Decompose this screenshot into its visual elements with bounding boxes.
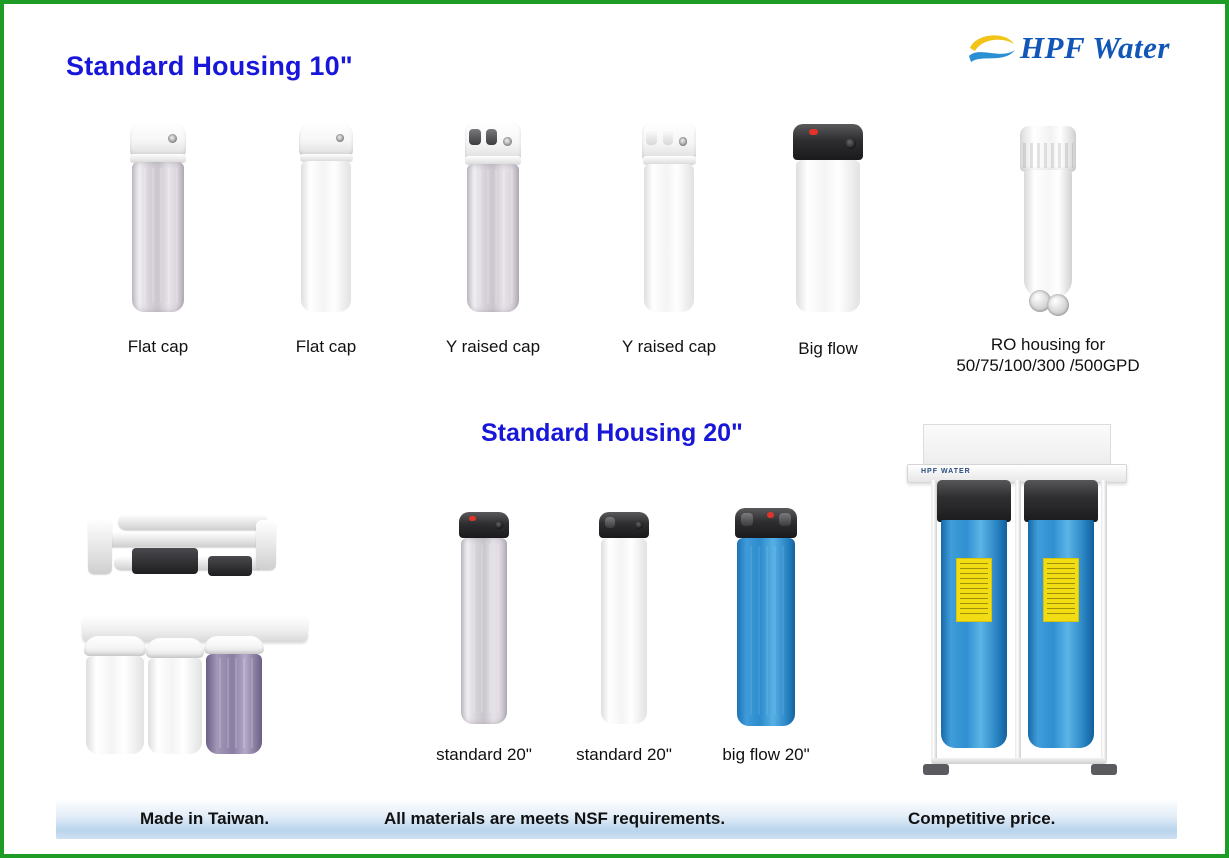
ro-membrane-tube (118, 514, 268, 530)
cap-white-flat (130, 122, 186, 156)
housing-body (301, 161, 351, 312)
cap-port-icon (845, 138, 856, 149)
cap-ribs (1023, 143, 1073, 168)
housing-image-white-20 (601, 512, 647, 724)
ro-pump (132, 548, 198, 574)
housing-image-ro-vessel (1011, 126, 1085, 312)
product-label: Y raised cap (408, 336, 578, 357)
ro-inline-filter (98, 532, 266, 547)
warning-label-right (1043, 558, 1079, 622)
water-wave-icon (966, 28, 1018, 68)
housing-body (1028, 520, 1094, 748)
housing-body (467, 164, 519, 312)
product-big-flow-20[interactable]: big flow 20" (704, 508, 828, 765)
cap-port-icon (168, 134, 177, 143)
big-blue-housing-right (1024, 480, 1098, 748)
stand-leg-right (1101, 480, 1107, 762)
housing-body (132, 162, 184, 312)
housing-body (206, 654, 262, 754)
ro-stage-2-housing (148, 638, 202, 754)
big-blue-housing-left (937, 480, 1011, 748)
stand-leg-left (931, 480, 937, 762)
housing-ribs (467, 545, 502, 712)
cap-lug-left (469, 129, 480, 145)
cap-white (84, 636, 147, 656)
cap-lug-left (741, 513, 754, 526)
housing-body (601, 538, 647, 724)
housing-body (644, 164, 694, 312)
stand-foot-right (1091, 764, 1117, 775)
product-flat-cap-clear[interactable]: Flat cap (78, 122, 238, 357)
product-y-raised-white[interactable]: Y raised cap (584, 122, 754, 357)
housing-ribs (213, 658, 256, 748)
cap-lug-left (646, 129, 657, 145)
section-title-20: Standard Housing 20" (481, 419, 743, 448)
cap-port-icon (635, 521, 643, 529)
cap-white-screw (1020, 126, 1076, 172)
product-standard-20-clear[interactable]: standard 20" (424, 512, 544, 765)
brand-name: HPF Water (1020, 30, 1170, 66)
housing-image-clear-20 (461, 512, 507, 724)
slide-canvas: Standard Housing 10" HPF Water Flat cap (0, 0, 1229, 858)
housing-image-white-flatcap (301, 122, 351, 312)
shelf-brand-label: HPF WATER (921, 468, 971, 475)
housing-body (737, 538, 795, 726)
housing-ribs (744, 546, 788, 715)
housing-body (86, 656, 144, 754)
housing-image-clear-yraised (467, 122, 519, 312)
cap-lug-mid (486, 129, 497, 145)
warning-label-left (956, 558, 992, 622)
footer-competitive-price: Competitive price. (908, 809, 1055, 829)
housing-ribs (473, 170, 513, 303)
cap-black (793, 124, 862, 160)
cap-black (937, 480, 1011, 522)
cap-white (204, 636, 264, 654)
cap-port-icon (503, 137, 512, 146)
product-label: Y raised cap (584, 336, 754, 357)
page-title: Standard Housing 10" (66, 51, 353, 82)
product-label: Flat cap (246, 336, 406, 357)
cap-white-flat (299, 122, 353, 156)
footer-nsf-requirements: All materials are meets NSF requirements… (384, 809, 725, 829)
housing-10-row: Flat cap Flat cap (56, 122, 1176, 372)
product-ro-housing[interactable]: RO housing for 50/75/100/300 /500GPD (918, 126, 1178, 377)
stand-leg-mid (1015, 480, 1021, 762)
ro-transformer (208, 556, 252, 576)
cap-port-icon (336, 134, 345, 143)
housing-body (1024, 170, 1071, 298)
cap-lug-right (779, 513, 792, 526)
footer-bar: Made in Taiwan. All materials are meets … (56, 799, 1177, 839)
product-label: big flow 20" (704, 744, 828, 765)
product-label: standard 20" (424, 744, 544, 765)
housing-ribs (307, 167, 345, 303)
footer-made-in-taiwan: Made in Taiwan. (140, 809, 269, 829)
cap-port-icon (679, 137, 688, 146)
housing-body (796, 160, 860, 312)
ro-manifold (88, 512, 302, 630)
cap-white-y-raised (465, 122, 521, 160)
wall-mount-plate (923, 424, 1111, 469)
housing-image-bigflow (796, 124, 860, 312)
housing-ribs (607, 545, 642, 712)
housing-ribs (138, 168, 178, 303)
product-big-flow[interactable]: Big flow (748, 124, 908, 359)
housing-ribs (650, 170, 688, 303)
product-label: standard 20" (562, 744, 686, 765)
cap-port-icon (495, 521, 503, 529)
warning-label-text-lines (960, 563, 988, 617)
cap-lug-left (605, 517, 615, 528)
pressure-release-button-icon[interactable] (767, 512, 773, 517)
cap-white (146, 638, 204, 658)
ro-stage-1-housing (86, 636, 144, 754)
cap-black (459, 512, 509, 538)
twin-big-blue-system[interactable]: HPF WATER (899, 424, 1134, 789)
product-standard-20-white[interactable]: standard 20" (562, 512, 686, 765)
housing-body (148, 658, 202, 754)
stand-foot-left (923, 764, 949, 775)
ro-system-assembly[interactable] (82, 512, 317, 752)
product-label: Big flow (748, 338, 908, 359)
product-y-raised-clear[interactable]: Y raised cap (408, 122, 578, 357)
housing-body (461, 538, 507, 724)
housing-ribs (804, 166, 853, 303)
cap-black (1024, 480, 1098, 522)
ro-port-right-icon (1047, 294, 1069, 316)
product-label: Flat cap (78, 336, 238, 357)
cap-white-y-raised (642, 122, 696, 160)
cap-lug-mid (663, 129, 674, 145)
warning-label-text-lines (1047, 563, 1075, 617)
cap-black (599, 512, 649, 538)
ro-side-bracket (88, 518, 112, 574)
cap-black (735, 508, 798, 538)
housing-body (941, 520, 1007, 748)
pressure-release-button-icon[interactable] (809, 129, 818, 135)
product-flat-cap-white[interactable]: Flat cap (246, 122, 406, 357)
housing-image-blue-20 (737, 508, 795, 726)
stand-base-bar (931, 758, 1107, 764)
product-label: RO housing for 50/75/100/300 /500GPD (918, 334, 1178, 377)
housing-image-clear-flatcap (132, 122, 184, 312)
ro-stage-3-housing (206, 636, 262, 754)
pressure-release-button-icon[interactable] (469, 516, 476, 521)
housing-image-white-yraised (644, 122, 694, 312)
ro-side-fitting (256, 520, 276, 570)
brand-logo: HPF Water (966, 28, 1170, 68)
